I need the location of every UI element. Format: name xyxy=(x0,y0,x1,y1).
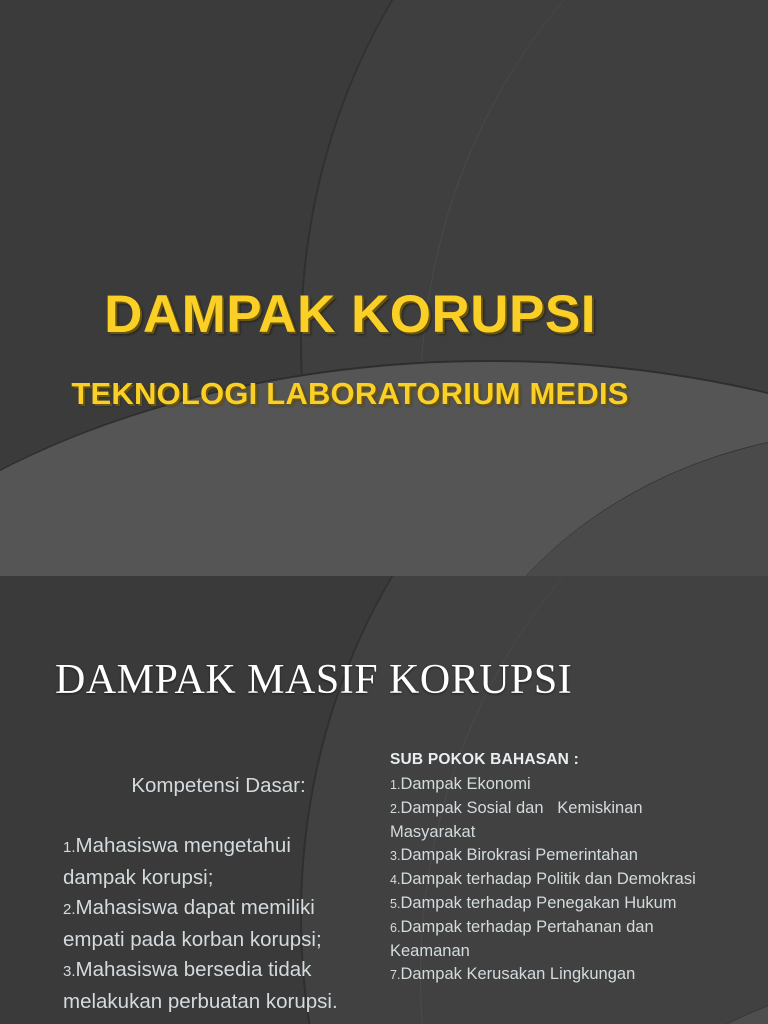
title-slide-content: DAMPAK KORUPSI TEKNOLOGI LABORATORIUM ME… xyxy=(0,0,768,576)
item-number: 2. xyxy=(63,901,76,918)
presentation-subtitle: TEKNOLOGI LABORATORIUM MEDIS xyxy=(0,378,700,409)
item-number: 5. xyxy=(390,897,400,911)
item-text: Dampak Ekonomi xyxy=(400,775,530,793)
list-item: 6.Dampak terhadap Pertahanan dan Keamana… xyxy=(390,916,720,963)
item-text: Dampak Birokrasi Pemerintahan xyxy=(400,846,638,864)
item-number: 7. xyxy=(390,968,400,982)
list-item: 1.Mahasiswa mengetahui dampak korupsi; xyxy=(63,831,363,893)
title-slide: DAMPAK KORUPSI TEKNOLOGI LABORATORIUM ME… xyxy=(0,0,768,576)
list-item: 4.Dampak terhadap Politik dan Demokrasi xyxy=(390,868,720,892)
item-text: Dampak terhadap Penegakan Hukum xyxy=(400,894,676,912)
item-number: 3. xyxy=(390,849,400,863)
item-number: 6. xyxy=(390,921,400,935)
item-text: Mahasiswa mengetahui dampak korupsi; xyxy=(63,834,297,889)
list-item: 2.Dampak Sosial dan Kemiskinan Masyaraka… xyxy=(390,797,720,844)
left-column: Kompetensi Dasar: 1.Mahasiswa mengetahui… xyxy=(63,741,363,1017)
item-number: 3. xyxy=(63,963,76,980)
item-number: 2. xyxy=(390,802,400,816)
right-column: SUB POKOK BAHASAN : 1.Dampak Ekonomi 2.D… xyxy=(390,748,720,987)
item-number: 1. xyxy=(390,778,400,792)
subtopics-heading: SUB POKOK BAHASAN : xyxy=(390,748,720,771)
item-text: Mahasiswa bersedia tidak melakukan perbu… xyxy=(63,958,338,1013)
item-text: Mahasiswa dapat memiliki empati pada kor… xyxy=(63,896,322,951)
list-item: 5.Dampak terhadap Penegakan Hukum xyxy=(390,892,720,916)
list-item: 7.Dampak Kerusakan Lingkungan xyxy=(390,963,720,987)
list-item: 3.Mahasiswa bersedia tidak melakukan per… xyxy=(63,955,363,1017)
content-slide-content: DAMPAK MASIF KORUPSI Kompetensi Dasar: 1… xyxy=(0,576,768,1024)
slide-heading: DAMPAK MASIF KORUPSI xyxy=(55,656,572,704)
competency-intro-label: Kompetensi Dasar: xyxy=(131,774,305,797)
content-slide: DAMPAK MASIF KORUPSI Kompetensi Dasar: 1… xyxy=(0,576,768,1024)
slide-deck: DAMPAK KORUPSI TEKNOLOGI LABORATORIUM ME… xyxy=(0,0,768,1024)
competency-intro: Kompetensi Dasar: xyxy=(63,741,363,831)
presentation-title: DAMPAK KORUPSI xyxy=(0,288,700,341)
item-text: Dampak terhadap Politik dan Demokrasi xyxy=(400,870,695,888)
list-item: 2.Mahasiswa dapat memiliki empati pada k… xyxy=(63,893,363,955)
item-number: 1. xyxy=(63,839,76,856)
item-text: Dampak terhadap Pertahanan dan Keamanan xyxy=(390,918,658,960)
list-item: 3.Dampak Birokrasi Pemerintahan xyxy=(390,844,720,868)
item-text: Dampak Kerusakan Lingkungan xyxy=(400,965,635,983)
item-text: Dampak Sosial dan Kemiskinan Masyarakat xyxy=(390,799,647,841)
item-number: 4. xyxy=(390,873,400,887)
list-item: 1.Dampak Ekonomi xyxy=(390,773,720,797)
